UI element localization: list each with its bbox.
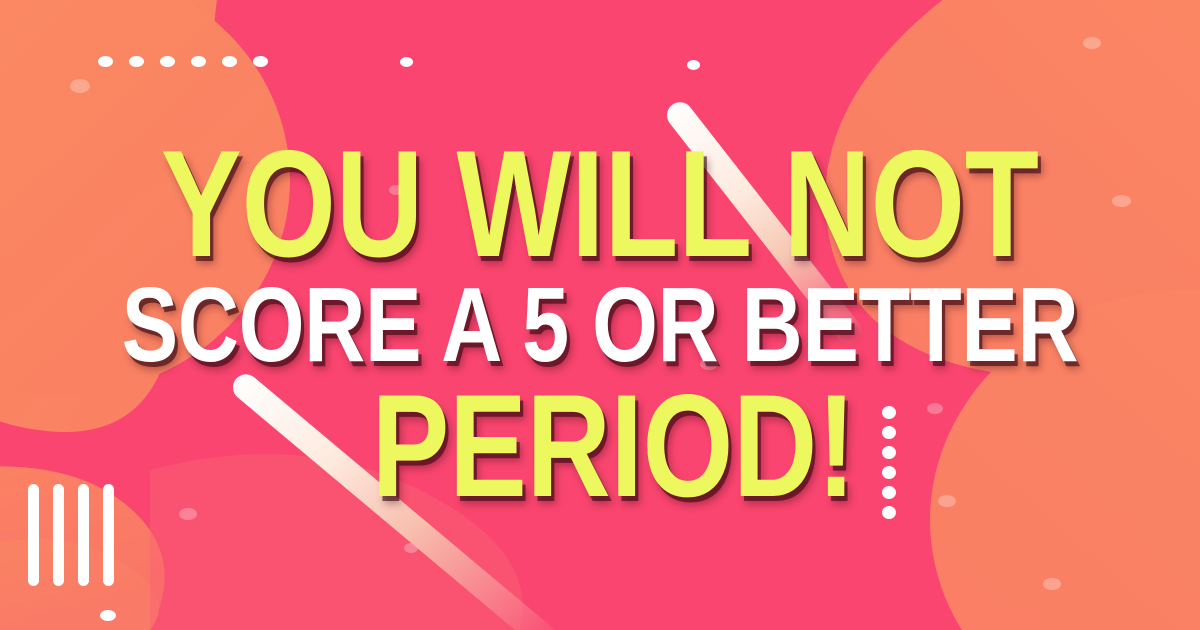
tally-bar xyxy=(103,484,114,586)
dot xyxy=(882,446,896,459)
poster-canvas: YOU WILL NOT SCORE A 5 OR BETTER PERIOD! xyxy=(0,0,1200,630)
tally-bar xyxy=(28,484,39,586)
headline-block: YOU WILL NOT SCORE A 5 OR BETTER PERIOD! xyxy=(0,0,1200,630)
headline-line-2: SCORE A 5 OR BETTER xyxy=(122,277,1079,375)
dot xyxy=(882,486,896,499)
dot xyxy=(882,506,896,519)
vertical-dot-column xyxy=(882,406,896,519)
headline-line-3: PERIOD! xyxy=(371,379,855,513)
headline-line-1: YOU WILL NOT xyxy=(161,135,1039,275)
dot xyxy=(882,426,896,439)
tally-bar xyxy=(53,484,64,586)
dot xyxy=(882,406,896,419)
tally-marks xyxy=(28,484,114,586)
tally-bar xyxy=(78,484,89,586)
dot xyxy=(882,466,896,479)
